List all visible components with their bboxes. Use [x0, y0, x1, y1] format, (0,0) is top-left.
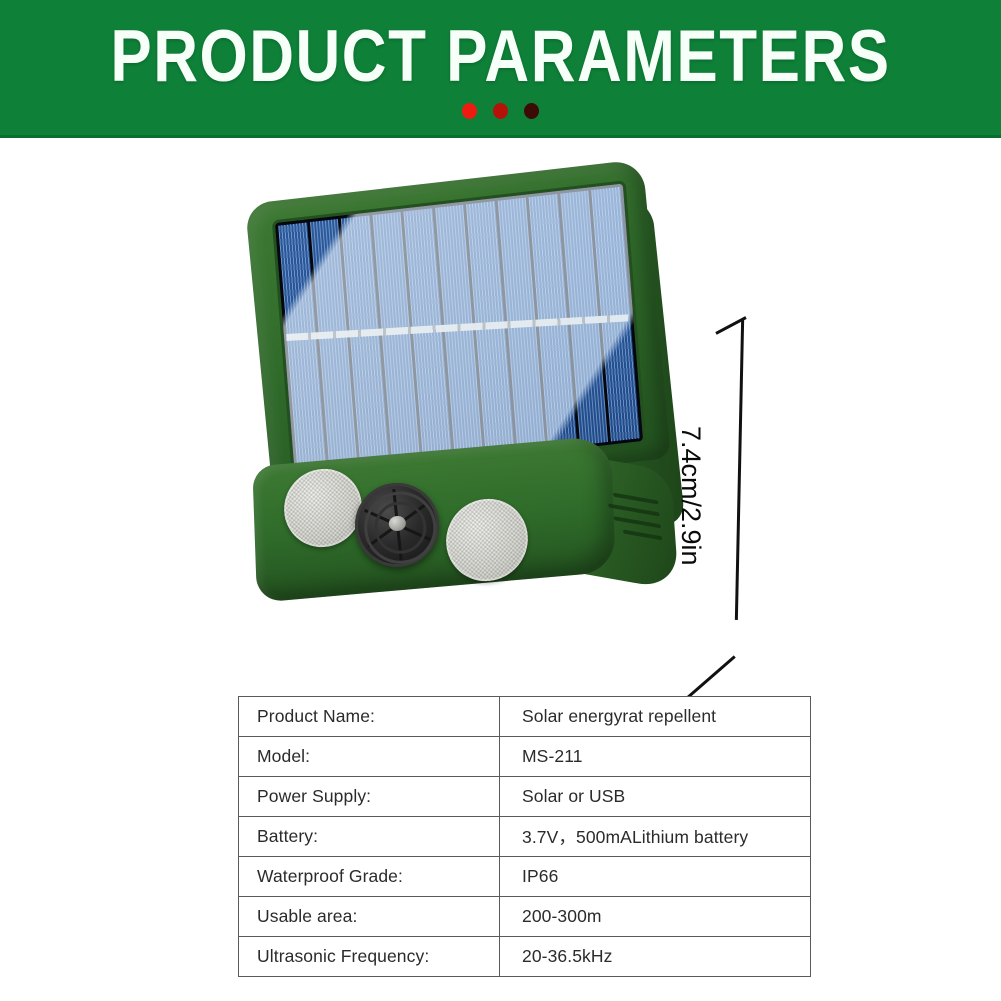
- spec-key: Waterproof Grade:: [239, 857, 500, 897]
- specification-table-body: Product Name: Solar energyrat repellent …: [239, 697, 811, 977]
- dot-dark-red: [524, 103, 539, 119]
- specification-table: Product Name: Solar energyrat repellent …: [238, 696, 811, 977]
- spec-key: Product Name:: [239, 697, 500, 737]
- spec-key: Ultrasonic Frequency:: [239, 937, 500, 977]
- table-row: Ultrasonic Frequency: 20-36.5kHz: [239, 937, 811, 977]
- spec-value: 3.7V，500mALithium battery: [500, 817, 811, 857]
- table-row: Battery: 3.7V，500mALithium battery: [239, 817, 811, 857]
- spec-value: Solar energyrat repellent: [500, 697, 811, 737]
- spec-key: Model:: [239, 737, 500, 777]
- spec-value: 200-300m: [500, 897, 811, 937]
- spec-value: 20-36.5kHz: [500, 937, 811, 977]
- product-parameters-page: PRODUCT PARAMETERS: [0, 0, 1001, 1001]
- dot-bright-red: [462, 103, 477, 119]
- table-row: Product Name: Solar energyrat repellent: [239, 697, 811, 737]
- spec-value: Solar or USB: [500, 777, 811, 817]
- spec-key: Usable area:: [239, 897, 500, 937]
- vent-line: [623, 529, 662, 540]
- table-row: Model: MS-211: [239, 737, 811, 777]
- vent-line: [614, 516, 662, 528]
- spec-key: Battery:: [239, 817, 500, 857]
- page-title: PRODUCT PARAMETERS: [0, 8, 1001, 107]
- spec-value: IP66: [500, 857, 811, 897]
- spec-value: MS-211: [500, 737, 811, 777]
- header-dots: [0, 103, 1001, 119]
- table-row: Usable area: 200-300m: [239, 897, 811, 937]
- device-vents: [596, 486, 664, 555]
- dimension-label-height: 7.4cm/2.9in: [675, 426, 706, 566]
- spec-key: Power Supply:: [239, 777, 500, 817]
- dimension-line-height: [735, 320, 744, 620]
- vent-line: [608, 503, 660, 516]
- solar-panel: [275, 184, 643, 481]
- product-image-area: 7.4cm/2.9in 9.4cm/3.7in 3cm/1.2in: [0, 138, 1001, 683]
- table-row: Waterproof Grade: IP66: [239, 857, 811, 897]
- product-device: [248, 173, 668, 628]
- header-band: PRODUCT PARAMETERS: [0, 0, 1001, 138]
- dot-medium-red: [493, 103, 508, 119]
- table-row: Power Supply: Solar or USB: [239, 777, 811, 817]
